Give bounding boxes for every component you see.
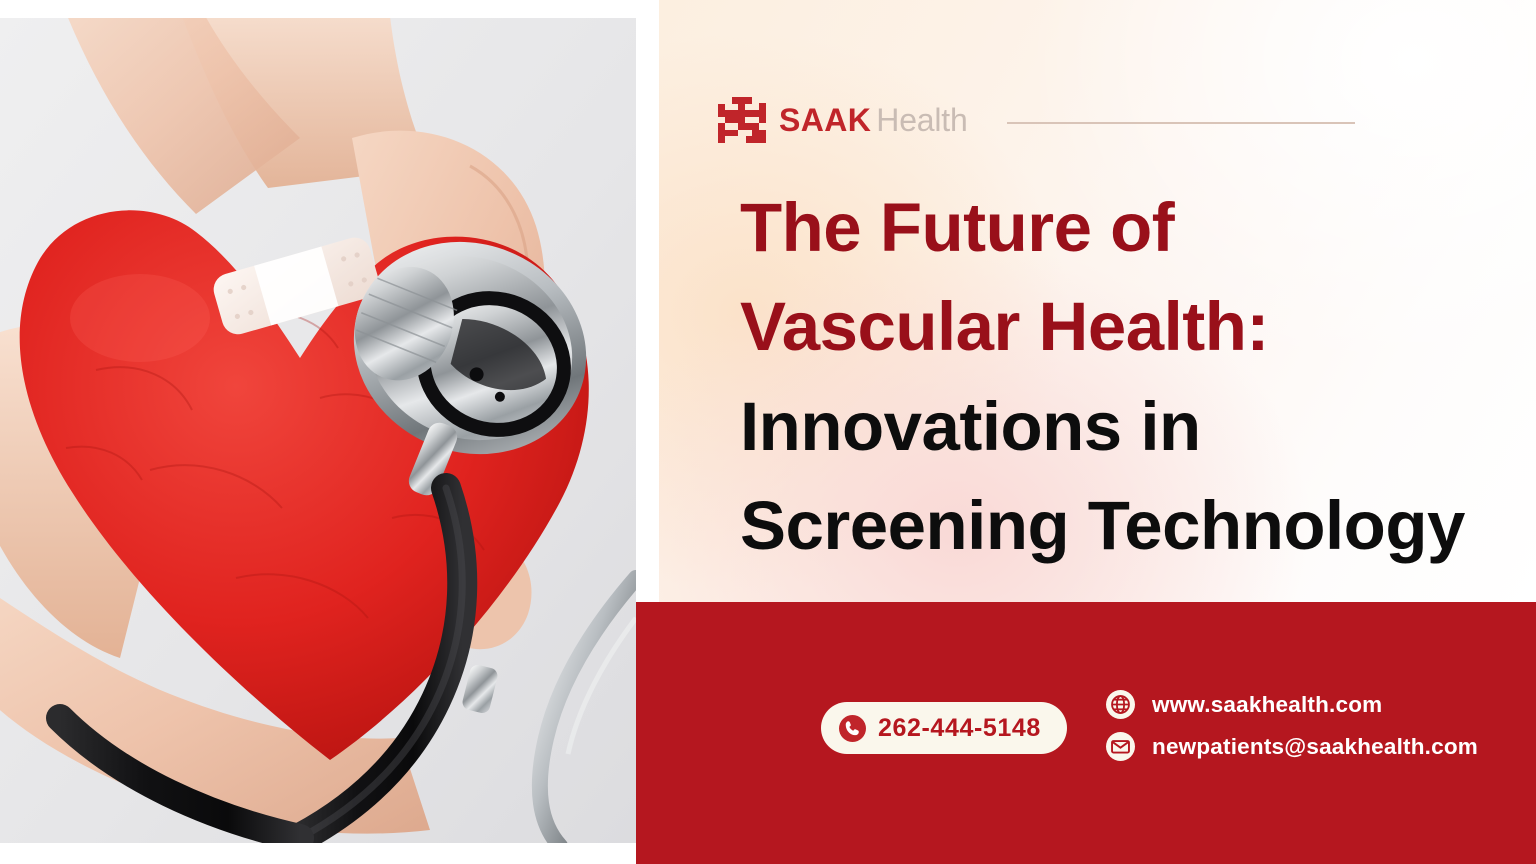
email-address: newpatients@saakhealth.com [1152, 734, 1478, 760]
headline-block: The Future of Vascular Health: Innovatio… [740, 178, 1500, 575]
brand-name-bold: SAAK [779, 104, 871, 136]
headline-line-4: Screening Technology [740, 476, 1500, 575]
globe-icon [1106, 690, 1135, 719]
envelope-icon [1106, 732, 1135, 761]
phone-number: 262-444-5148 [878, 714, 1041, 743]
website-url: www.saakhealth.com [1152, 692, 1382, 718]
brand-wordmark: SAAK Health [779, 104, 968, 136]
headline-line-3: Innovations in [740, 377, 1500, 476]
brand-name-light: Health [876, 104, 967, 136]
contact-footer-bar: 262-444-5148 www.saakhealth.com [636, 602, 1536, 864]
hero-photo [0, 18, 636, 843]
headline-line-2: Vascular Health: [740, 277, 1500, 376]
email-row[interactable]: newpatients@saakhealth.com [1106, 732, 1478, 761]
marketing-banner: SAAK Health The Future of Vascular Healt… [0, 0, 1536, 864]
brand-logo[interactable]: SAAK Health [718, 95, 968, 145]
medical-cross-s-monogram-icon [718, 97, 766, 143]
phone-pill[interactable]: 262-444-5148 [821, 702, 1067, 754]
contact-details: www.saakhealth.com newpatients@saakhealt… [1106, 690, 1478, 761]
logo-divider-rule [1007, 122, 1355, 124]
website-row[interactable]: www.saakhealth.com [1106, 690, 1478, 719]
phone-icon [839, 715, 866, 742]
headline-line-1: The Future of [740, 178, 1500, 277]
